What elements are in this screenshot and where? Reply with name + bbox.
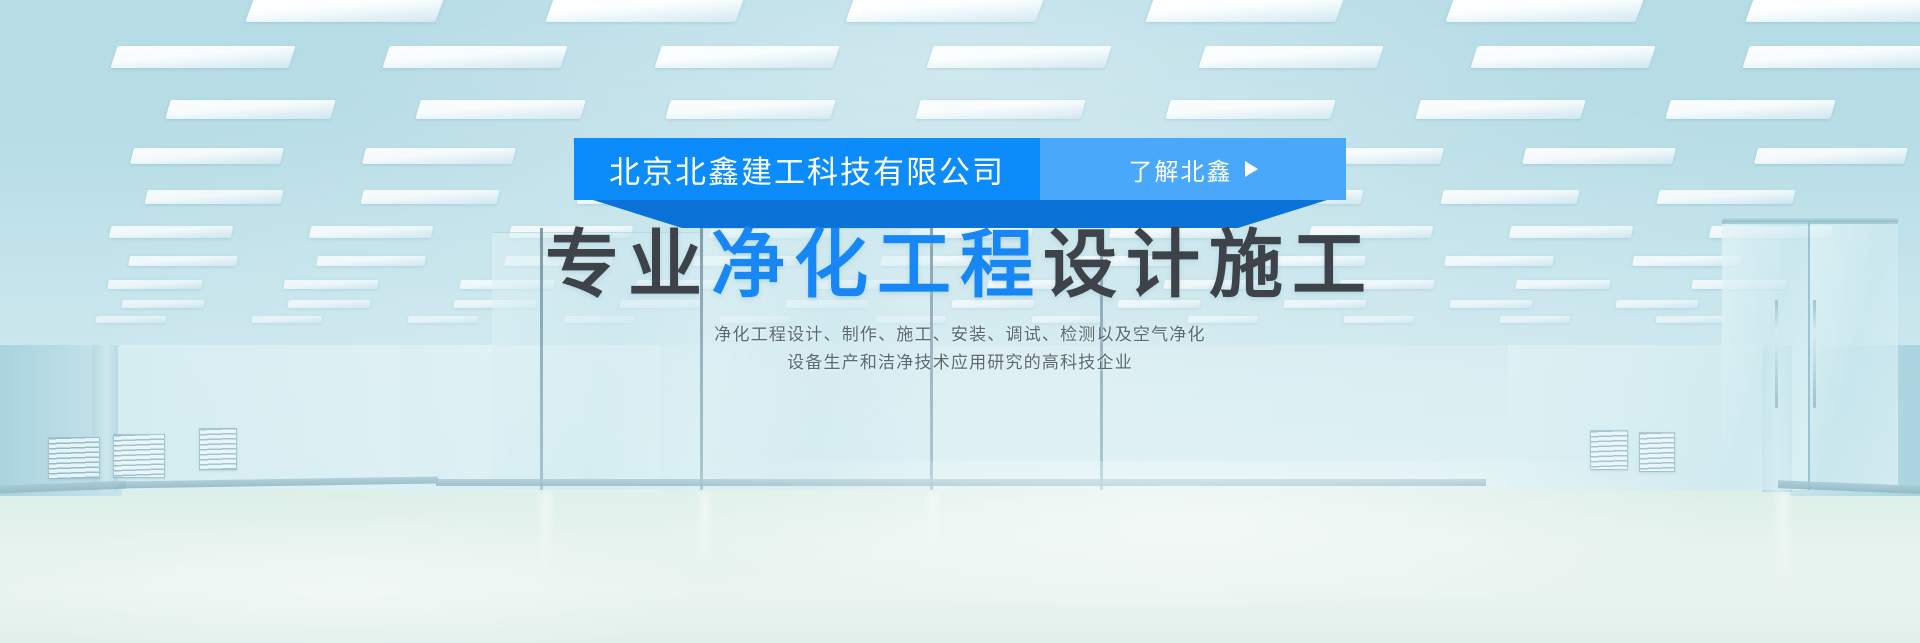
subtitle-line-1: 净化工程设计、制作、施工、安装、调试、检测以及空气净化 [714, 320, 1205, 345]
hero-content: 北京北鑫建工科技有限公司 了解北鑫 专业净化工程设计施工 净化工程设计、制作、施… [0, 0, 1920, 643]
ribbon-main-bar: 北京北鑫建工科技有限公司 了解北鑫 [574, 138, 1346, 200]
headline: 专业净化工程设计施工 [545, 228, 1375, 302]
company-name-block: 北京北鑫建工科技有限公司 [574, 138, 1040, 200]
headline-part-3: 设计施工 [1043, 223, 1375, 306]
company-ribbon: 北京北鑫建工科技有限公司 了解北鑫 [574, 138, 1346, 228]
learn-more-button[interactable]: 了解北鑫 [1040, 138, 1346, 200]
subtitle-line-2: 设备生产和洁净技术应用研究的高科技企业 [787, 348, 1133, 373]
headline-part-2: 净化工程 [711, 223, 1043, 306]
play-triangle-right-icon [1245, 161, 1258, 177]
learn-more-label: 了解北鑫 [1129, 152, 1233, 187]
hero-banner: 北京北鑫建工科技有限公司 了解北鑫 专业净化工程设计施工 净化工程设计、制作、施… [0, 0, 1920, 643]
company-name-text: 北京北鑫建工科技有限公司 [609, 147, 1005, 192]
headline-part-1: 专业 [545, 223, 711, 306]
